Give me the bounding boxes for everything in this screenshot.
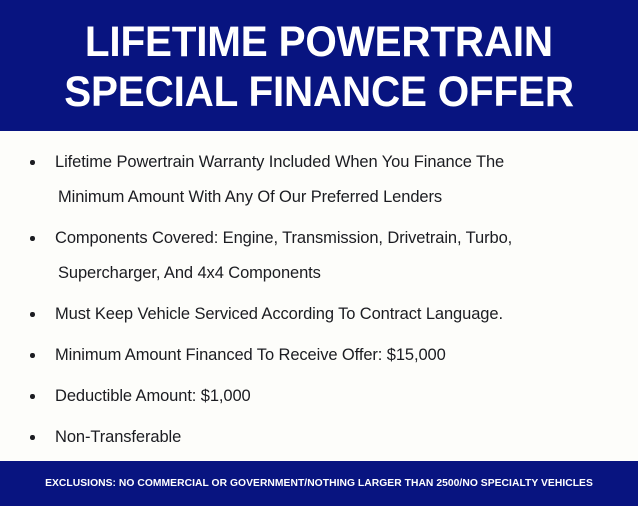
exclusions-banner: EXCLUSIONS: NO COMMERCIAL OR GOVERNMENT/… (0, 461, 638, 506)
list-item-line-2: Minimum Amount With Any Of Our Preferred… (58, 180, 620, 215)
list-item-line-1: Minimum Amount Financed To Receive Offer… (55, 346, 446, 364)
promo-slide: LIFETIME POWERTRAIN SPECIAL FINANCE OFFE… (0, 0, 638, 479)
bullet-dot-icon (30, 236, 35, 241)
slide-body: Lifetime Powertrain Warranty Included Wh… (0, 131, 638, 461)
bullet-dot-icon (30, 160, 35, 165)
exclusions-text: EXCLUSIONS: NO COMMERCIAL OR GOVERNMENT/… (45, 478, 593, 489)
list-item: Must Keep Vehicle Serviced According To … (22, 297, 620, 332)
bullet-dot-icon (30, 394, 35, 399)
list-item-line-1: Components Covered: Engine, Transmission… (55, 229, 512, 247)
list-item: Non-Transferable (22, 420, 620, 455)
bullet-dot-icon (30, 353, 35, 358)
list-item-line-1: Deductible Amount: $1,000 (55, 387, 251, 405)
slide-header: LIFETIME POWERTRAIN SPECIAL FINANCE OFFE… (0, 0, 638, 131)
page-title-line-1: LIFETIME POWERTRAIN (85, 17, 553, 67)
list-item: Deductible Amount: $1,000 (22, 379, 620, 414)
list-item-line-1: Non-Transferable (55, 428, 181, 446)
page-title-line-2: SPECIAL FINANCE OFFER (64, 67, 574, 117)
bullet-dot-icon (30, 435, 35, 440)
list-item-line-1: Must Keep Vehicle Serviced According To … (55, 305, 503, 323)
bullet-dot-icon (30, 312, 35, 317)
offer-details-list: Lifetime Powertrain Warranty Included Wh… (22, 145, 620, 455)
list-item-line-2: Supercharger, And 4x4 Components (58, 256, 620, 291)
list-item-line-1: Lifetime Powertrain Warranty Included Wh… (55, 153, 504, 171)
list-item: Minimum Amount Financed To Receive Offer… (22, 338, 620, 373)
list-item: Lifetime Powertrain Warranty Included Wh… (22, 145, 620, 215)
list-item: Components Covered: Engine, Transmission… (22, 221, 620, 291)
